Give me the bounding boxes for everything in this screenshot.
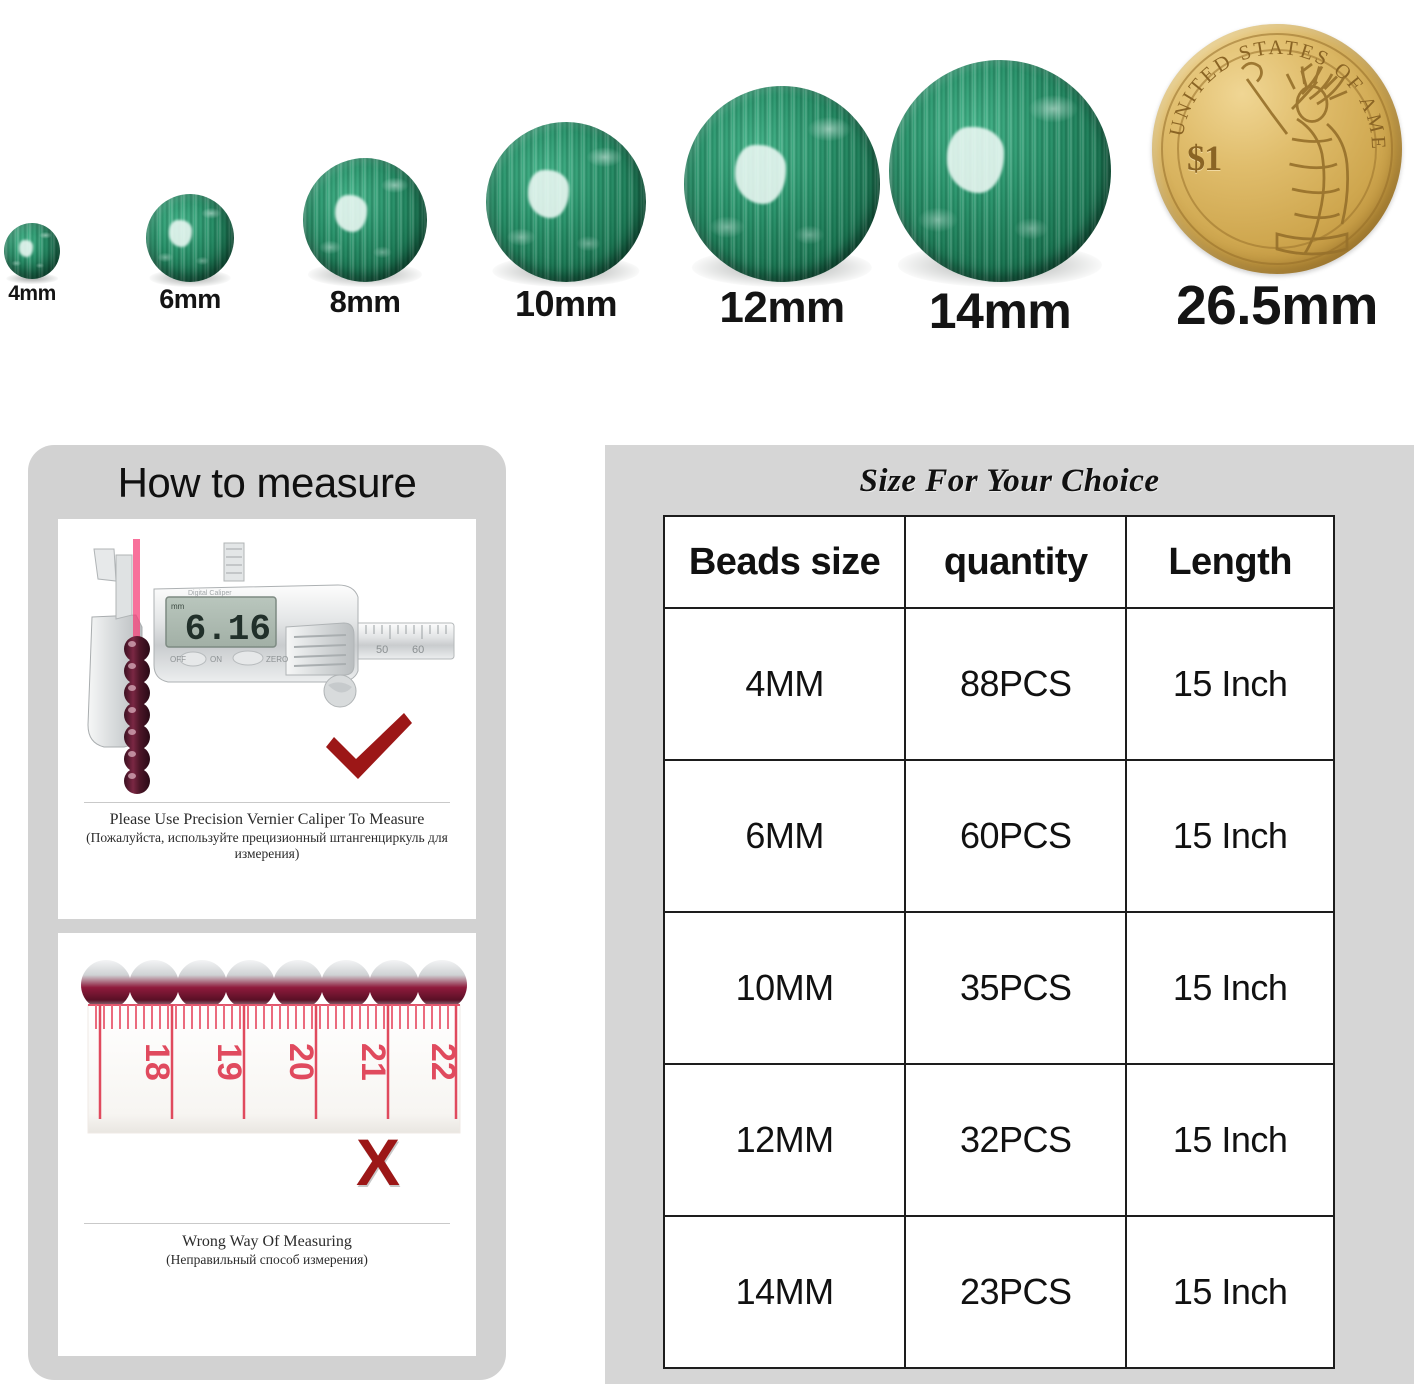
table-row: 6MM60PCS15 Inch [664, 760, 1334, 912]
size-item-12mm: 12mm [692, 86, 872, 330]
size-item-10mm: 10mm [476, 122, 656, 322]
table-row: 12MM32PCS15 Inch [664, 1064, 1334, 1216]
cell-quantity: 60PCS [905, 760, 1126, 912]
cell-quantity: 88PCS [905, 608, 1126, 760]
column-header-quantity: quantity [905, 516, 1126, 608]
cell-beads-size: 14MM [664, 1216, 905, 1368]
size-label-14mm: 14mm [929, 286, 1072, 336]
correct-caption-en: Please Use Precision Vernier Caliper To … [58, 811, 476, 829]
size-label-4mm: 4mm [8, 283, 56, 304]
bead-sphere [486, 122, 646, 282]
dollar-coin: UNITED STATES OF AMERICA$1 [1152, 24, 1402, 274]
size-label-8mm: 8mm [330, 286, 401, 317]
svg-text:60: 60 [412, 644, 424, 656]
cell-beads-size: 4MM [664, 608, 905, 760]
svg-text:21: 21 [354, 1043, 392, 1081]
malachite-bead-12mm [684, 86, 880, 282]
svg-text:Digital Caliper: Digital Caliper [188, 590, 232, 597]
coin-face: UNITED STATES OF AMERICA$1 [1152, 24, 1402, 274]
size-label-12mm: 12mm [719, 286, 844, 330]
malachite-bead-10mm [486, 122, 646, 282]
size-item-6mm: 6mm [100, 194, 280, 313]
svg-text:19: 19 [210, 1043, 248, 1081]
correct-measure-card: 50 60 mm 6.16 [58, 519, 476, 919]
correct-caption: Please Use Precision Vernier Caliper To … [58, 811, 476, 861]
how-to-measure-title: How to measure [28, 445, 506, 505]
wrong-measure-card: 18 19 20 21 22 X Wrong Way Of Measuring … [58, 933, 476, 1356]
cell-length: 15 Inch [1126, 760, 1334, 912]
svg-text:ZERO: ZERO [266, 655, 288, 664]
how-to-measure-panel: How to measure [28, 445, 506, 1380]
size-chart-table: Beads size quantity Length 4MM88PCS15 In… [663, 515, 1335, 1369]
cell-length: 15 Inch [1126, 1064, 1334, 1216]
table-row: 10MM35PCS15 Inch [664, 912, 1334, 1064]
size-chart-title: Size For Your Choice [605, 445, 1414, 500]
size-item-26-5mm: UNITED STATES OF AMERICA$126.5mm [1187, 24, 1367, 333]
bead-sphere [146, 194, 234, 282]
cell-length: 15 Inch [1126, 912, 1334, 1064]
caliper-reading-value: 6.16 [185, 609, 271, 650]
malachite-bead-6mm [146, 194, 234, 282]
table-header-row: Beads size quantity Length [664, 516, 1334, 608]
wrong-caption: Wrong Way Of Measuring (Неправильный спо… [58, 1233, 476, 1268]
cell-length: 15 Inch [1126, 1216, 1334, 1368]
svg-text:OFF: OFF [170, 655, 186, 664]
svg-text:ON: ON [210, 655, 222, 664]
svg-text:22: 22 [424, 1043, 462, 1081]
card-divider [84, 802, 450, 803]
card-divider-2 [84, 1223, 450, 1224]
size-item-14mm: 14mm [910, 60, 1090, 336]
cell-beads-size: 10MM [664, 912, 905, 1064]
table-row: 4MM88PCS15 Inch [664, 608, 1334, 760]
cell-quantity: 35PCS [905, 912, 1126, 1064]
table-row: 14MM23PCS15 Inch [664, 1216, 1334, 1368]
x-icon: X [356, 1129, 400, 1195]
svg-text:20: 20 [282, 1043, 320, 1081]
malachite-bead-14mm [889, 60, 1111, 282]
size-chart-panel: Size For Your Choice Beads size quantity… [605, 445, 1414, 1384]
size-item-8mm: 8mm [275, 158, 455, 317]
check-icon [320, 709, 416, 794]
cell-quantity: 23PCS [905, 1216, 1126, 1368]
cell-quantity: 32PCS [905, 1064, 1126, 1216]
bead-sphere [684, 86, 880, 282]
tape-svg: 18 19 20 21 22 [58, 933, 476, 1233]
column-header-beads-size: Beads size [664, 516, 905, 608]
bead-size-comparison-row: 4mm6mm8mm10mm12mm14mmUNITED STATES OF AM… [0, 0, 1414, 345]
wrong-bead-strand [81, 960, 467, 1010]
cell-beads-size: 6MM [664, 760, 905, 912]
table-body: 4MM88PCS15 Inch6MM60PCS15 Inch10MM35PCS1… [664, 608, 1334, 1368]
tape-illustration: 18 19 20 21 22 [58, 933, 476, 1233]
bead-sphere [889, 60, 1111, 282]
correct-caption-ru: (Пожалуйста, используйте прецизионный шт… [58, 830, 476, 861]
bead-sphere [4, 223, 60, 279]
size-label-6mm: 6mm [159, 286, 221, 313]
svg-text:18: 18 [138, 1043, 176, 1081]
size-label-26-5mm: 26.5mm [1176, 278, 1378, 333]
cell-length: 15 Inch [1126, 608, 1334, 760]
wrong-caption-en: Wrong Way Of Measuring [58, 1233, 476, 1251]
cell-beads-size: 12MM [664, 1064, 905, 1216]
malachite-bead-4mm [4, 223, 60, 279]
coin-denomination: $1 [1187, 137, 1221, 179]
svg-text:mm: mm [171, 602, 185, 611]
column-header-length: Length [1126, 516, 1334, 608]
bead-sphere [303, 158, 427, 282]
svg-text:50: 50 [376, 644, 388, 656]
malachite-bead-8mm [303, 158, 427, 282]
wrong-caption-ru: (Неправильный способ измерения) [58, 1252, 476, 1268]
size-label-10mm: 10mm [515, 286, 617, 322]
svg-text:UNITED STATES OF AMERICA: UNITED STATES OF AMERICA [1152, 24, 1389, 152]
